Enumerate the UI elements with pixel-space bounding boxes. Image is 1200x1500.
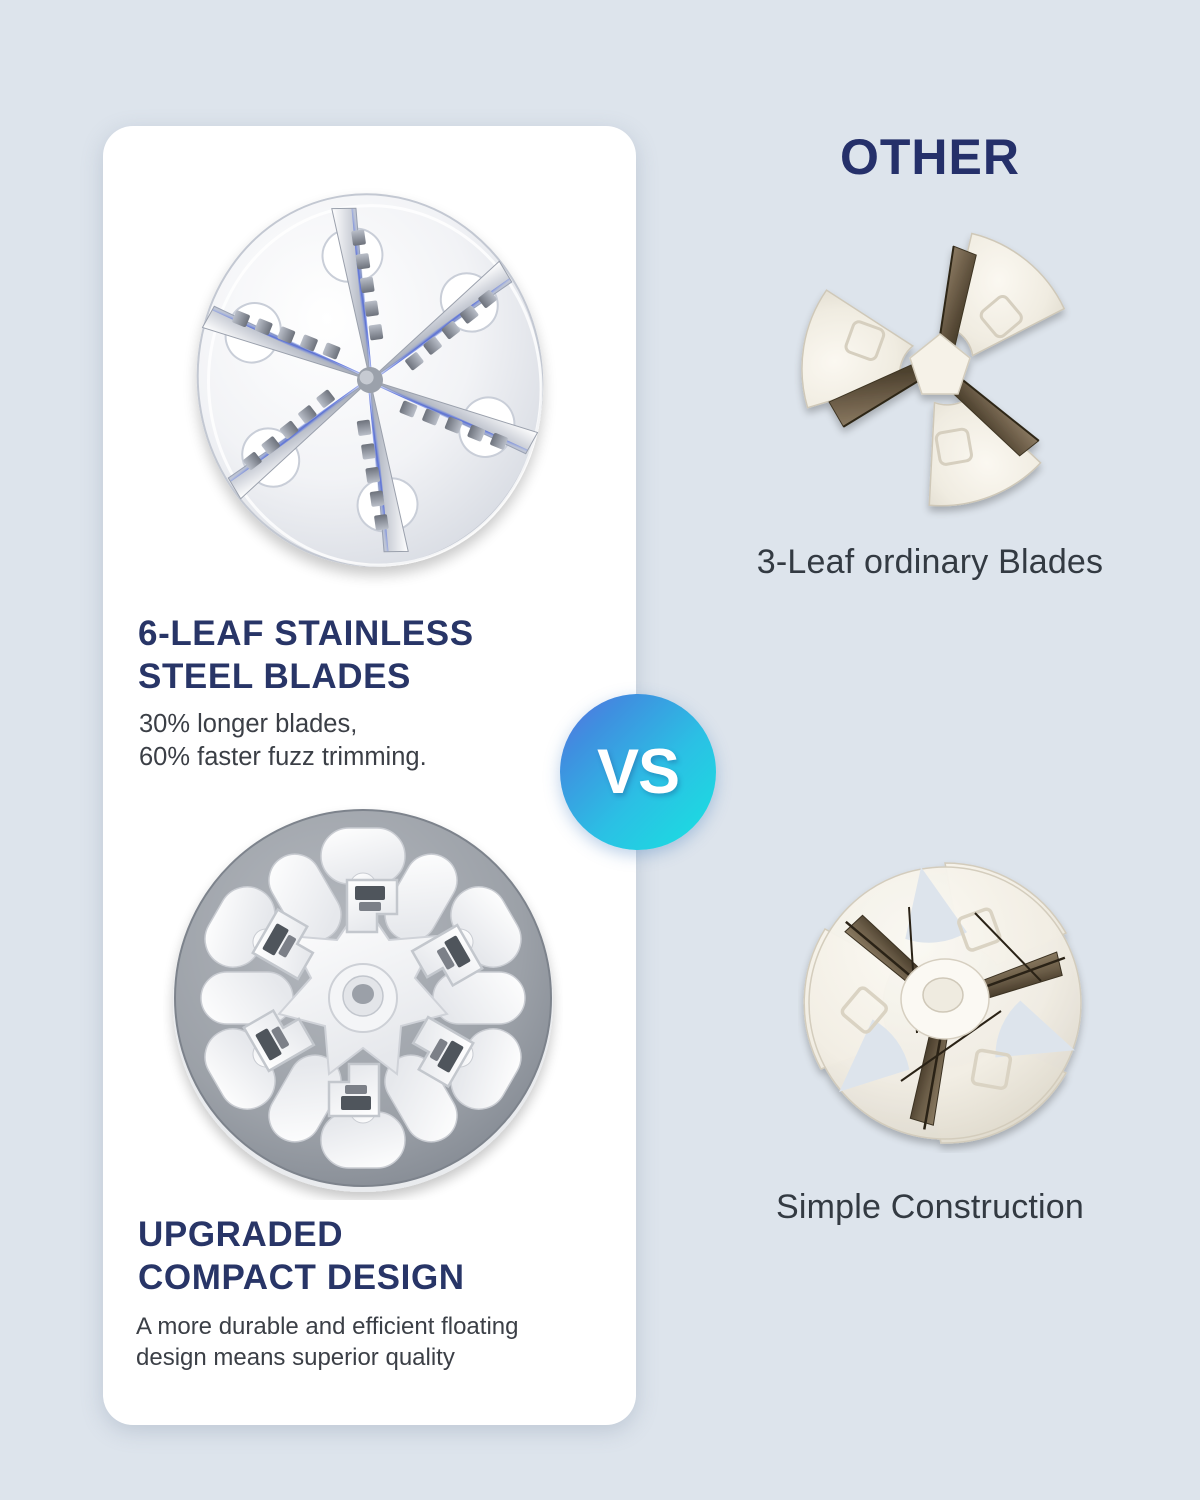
other-caption-top: 3-Leaf ordinary Blades [660, 543, 1200, 582]
other-caption-bottom: Simple Construction [660, 1188, 1200, 1227]
upgraded-compact-blade-disc-image [163, 800, 563, 1200]
comparison-infographic: OTHER [0, 0, 1200, 1500]
three-leaf-ordinary-blade-head-image [788, 218, 1093, 523]
vs-badge-label: VS [597, 736, 679, 808]
feature-body-blades: 30% longer blades, 60% faster fuzz trimm… [139, 708, 579, 774]
feature-body-design: A more durable and efficient floating de… [136, 1311, 616, 1373]
other-column-title: OTHER [690, 128, 1170, 186]
feature-heading-blades: 6-LEAF STAINLESS STEEL BLADES [138, 612, 578, 698]
simple-construction-blade-head-image [798, 858, 1093, 1153]
six-leaf-stainless-steel-blade-head-image [175, 168, 565, 593]
feature-heading-design: UPGRADED COMPACT DESIGN [138, 1213, 578, 1299]
vs-badge: VS [560, 694, 716, 850]
